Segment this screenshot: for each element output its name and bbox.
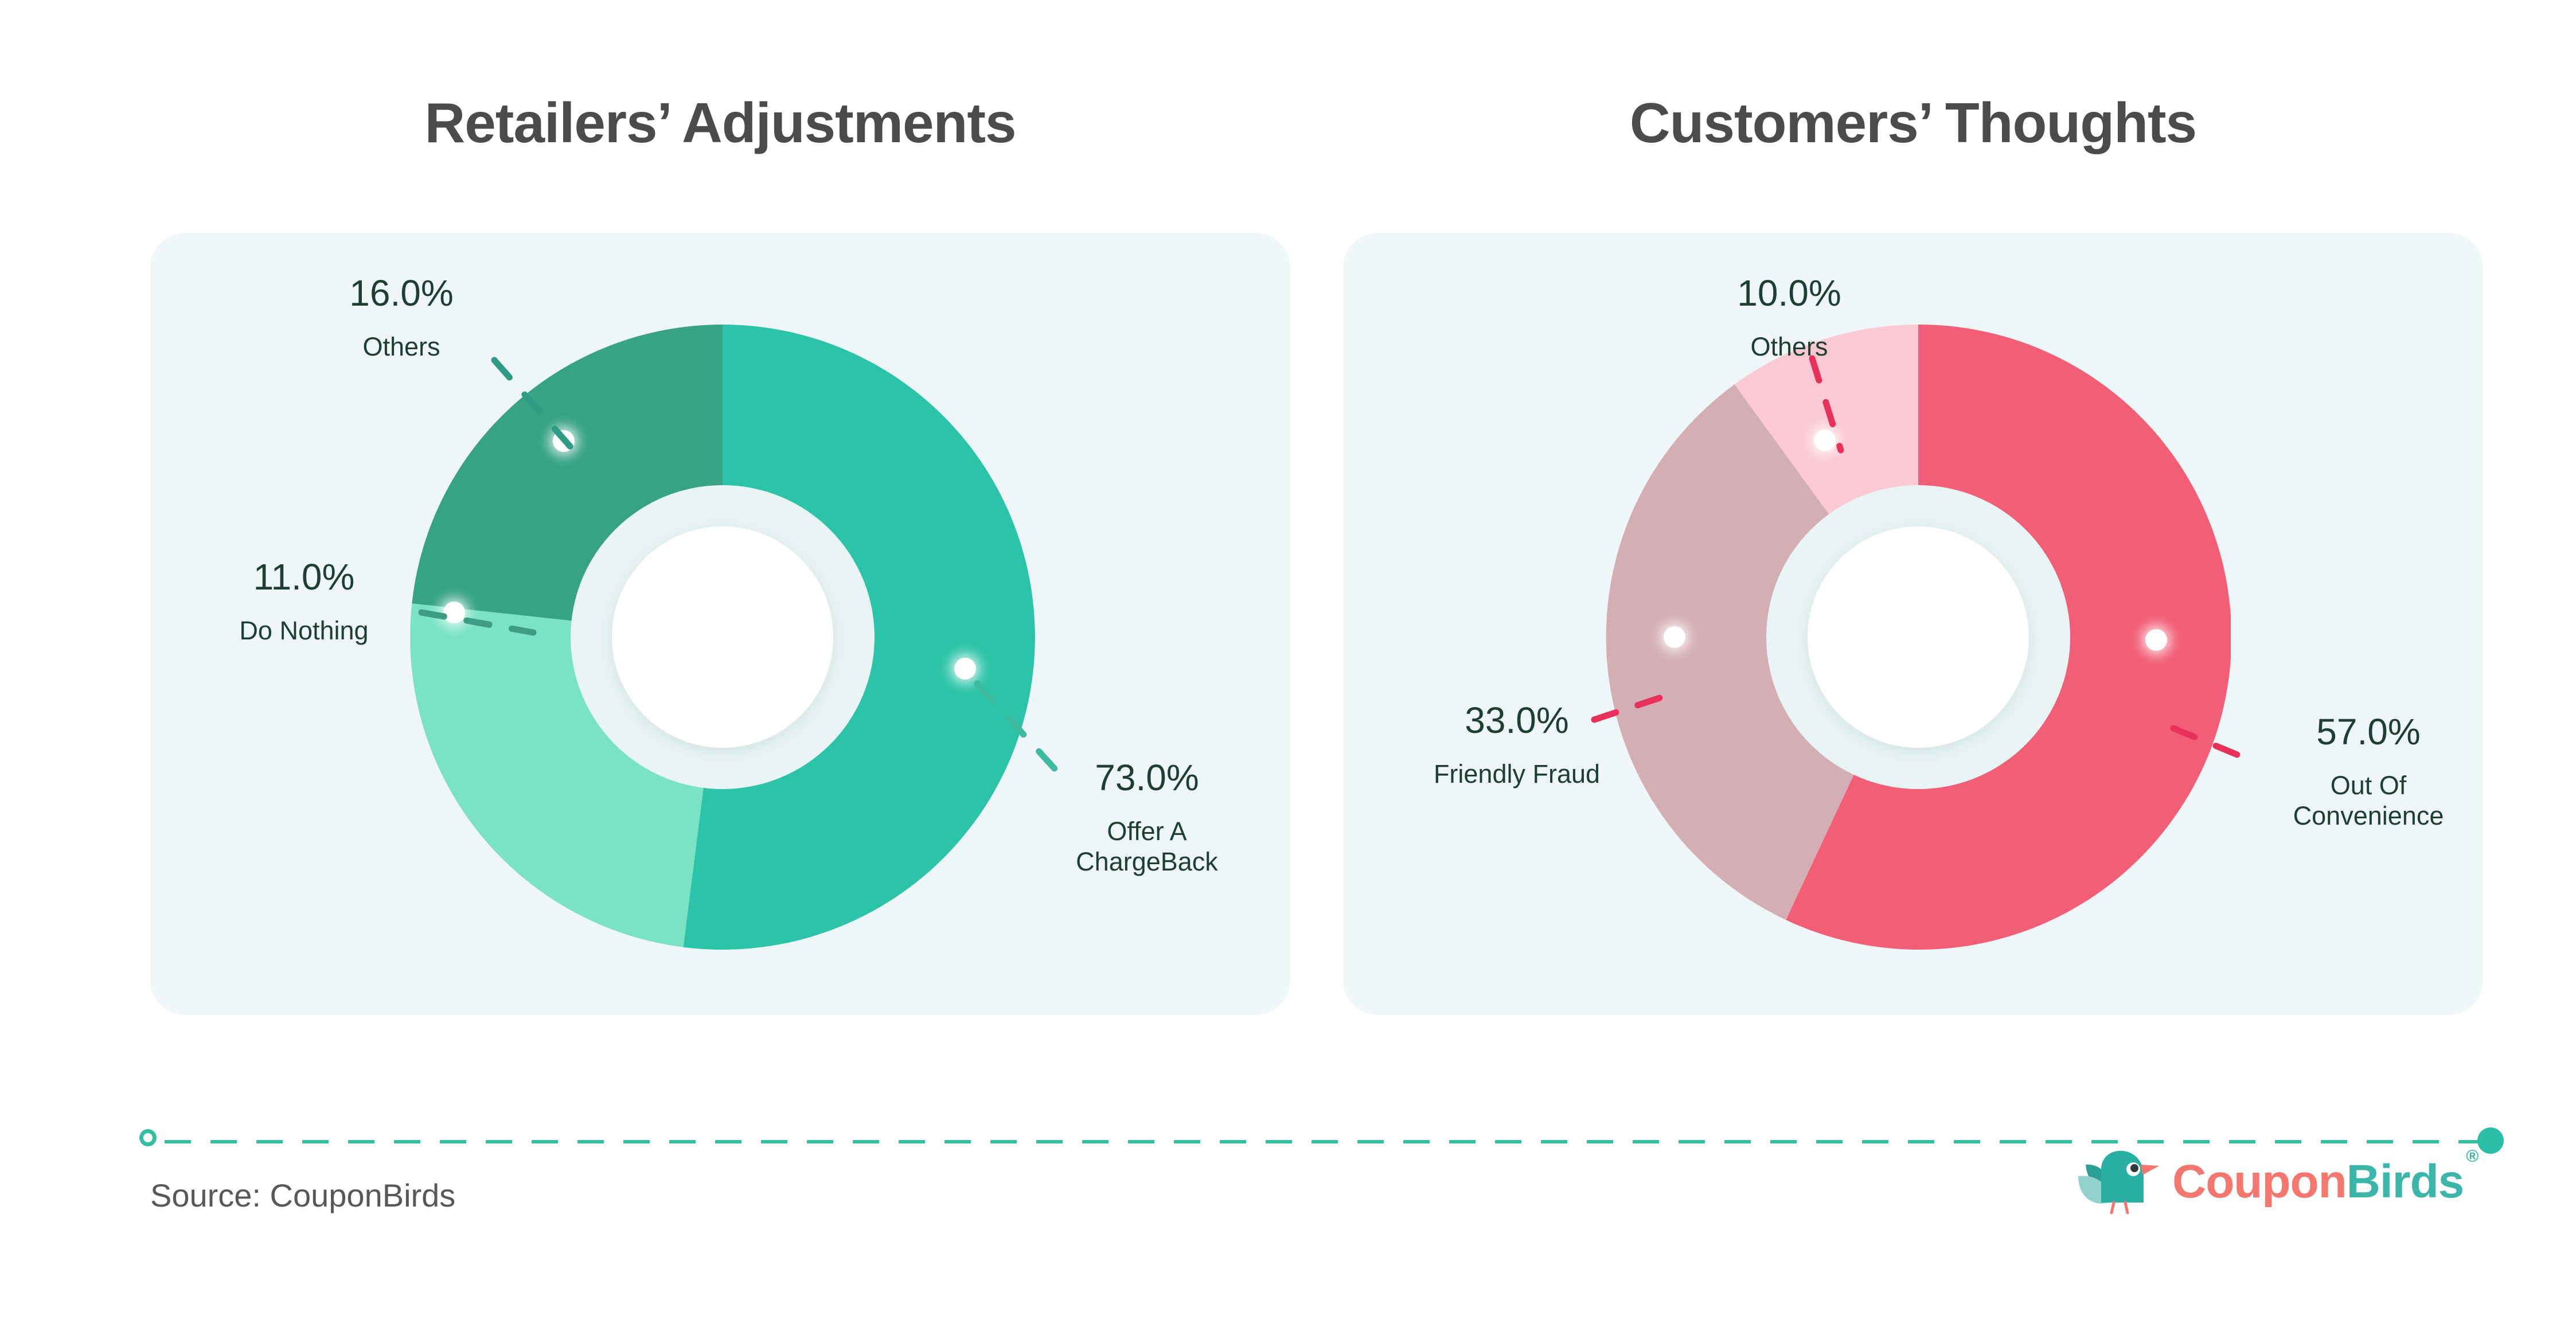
callout-offer-a-chargeback: 73.0% Offer A ChargeBack	[1027, 745, 1267, 888]
callout-others-retailers: 16.0% Others	[310, 261, 493, 373]
donut-hub-center	[612, 526, 833, 748]
callout-label: Friendly Fraud	[1376, 759, 1657, 789]
logo-word-coupon: Coupon	[2172, 1156, 2347, 1208]
logo-wordmark: CouponBirds®	[2172, 1158, 2476, 1205]
callout-percent: 11.0%	[189, 556, 419, 599]
callout-label: Do Nothing	[189, 615, 419, 646]
callout-others-customers: 10.0% Others	[1697, 261, 1881, 373]
callout-friendly-fraud: 33.0% Friendly Fraud	[1376, 688, 1657, 800]
marker-dot-others	[553, 430, 575, 452]
callout-percent: 57.0%	[2237, 711, 2500, 754]
donut-chart-customers	[1606, 325, 2231, 950]
bird-icon	[2076, 1150, 2162, 1214]
callout-label: Offer A ChargeBack	[1027, 816, 1267, 877]
callout-label: Others	[310, 331, 493, 362]
page-title-retailers: Retailers’ Adjustments	[150, 95, 1290, 151]
divider-start-circle-icon	[139, 1129, 157, 1146]
callout-percent: 33.0%	[1376, 699, 1657, 743]
logo-word-birds: Birds	[2347, 1156, 2464, 1208]
callout-percent: 10.0%	[1697, 272, 1881, 315]
callout-label: Others	[1697, 331, 1881, 362]
marker-dot-friendly-fraud	[1664, 626, 1685, 648]
donut-chart-retailers	[410, 325, 1035, 950]
couponbirds-logo[interactable]: CouponBirds®	[2076, 1150, 2476, 1214]
callout-label: Out Of Convenience	[2237, 770, 2500, 831]
marker-dot-do-nothing	[443, 602, 465, 623]
callout-percent: 16.0%	[310, 272, 493, 315]
marker-dot-chargeback	[954, 658, 976, 680]
footer-divider	[165, 1140, 2479, 1143]
marker-dot-others	[1814, 430, 1836, 451]
donut-hub-center	[1808, 526, 2029, 748]
source-attribution: Source: CouponBirds	[150, 1177, 455, 1214]
callout-do-nothing: 11.0% Do Nothing	[189, 545, 419, 657]
callout-percent: 73.0%	[1027, 756, 1267, 800]
page-title-customers: Customers’ Thoughts	[1343, 95, 2483, 151]
callout-out-of-convenience: 57.0% Out Of Convenience	[2237, 700, 2500, 842]
marker-dot-out-of-convenience	[2145, 629, 2167, 651]
registered-trademark-icon: ®	[2466, 1147, 2478, 1166]
divider-end-circle-icon	[2477, 1127, 2504, 1154]
